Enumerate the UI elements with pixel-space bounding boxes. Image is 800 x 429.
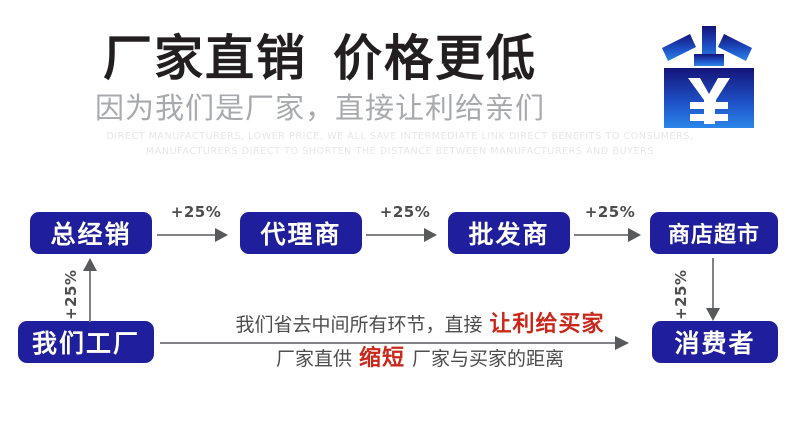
save-yuan-badge-icon (650, 22, 770, 140)
arrow-shaft (157, 234, 217, 236)
page-title: 厂家直销价格更低 (0, 30, 640, 88)
markup-label: +25% (672, 270, 690, 320)
slogan-line2-prefix: 厂家直供 (276, 348, 352, 370)
markup-arrow-agent-to-wholesaler: +25% (366, 203, 444, 249)
slogan-line1-highlight: 让利给买家 (490, 312, 605, 337)
flow-node-agent[interactable]: 代理商 (240, 212, 362, 254)
headline-right: 价格更低 (333, 30, 537, 87)
markup-arrow-factory-to-distributor: +25% (46, 258, 106, 322)
arrow-shaft (366, 234, 426, 236)
markup-label: +25% (157, 203, 235, 221)
arrow-shaft (574, 234, 630, 236)
flow-node-wholesaler[interactable]: 批发商 (448, 212, 570, 254)
markup-arrow-wholesaler-to-store: +25% (574, 203, 646, 249)
arrow-head-right-icon (215, 228, 228, 242)
arrow-head-right-icon (424, 228, 437, 242)
flow-node-factory[interactable]: 我们工厂 (18, 321, 154, 363)
slogan-line2-suffix: 厂家与买家的距离 (412, 348, 564, 370)
arrow-shaft (712, 258, 714, 310)
page-subtitle: 因为我们是厂家，直接让利给亲们 (0, 90, 640, 126)
slogan-line1-prefix: 我们省去中间所有环节，直接 (235, 314, 482, 336)
flow-node-store[interactable]: 商店超市 (650, 212, 778, 254)
markup-arrow-store-to-consumer: +25% (672, 258, 732, 322)
slogan-line2-highlight: 缩短 (359, 346, 405, 371)
arrow-shaft (160, 342, 615, 344)
markup-label: +25% (62, 270, 80, 320)
arrow-head-up-icon (83, 258, 97, 271)
arrow-head-down-icon (706, 308, 720, 321)
flow-node-distributor[interactable]: 总经销 (30, 212, 152, 254)
arrow-head-right-icon (628, 228, 641, 242)
headline-left: 厂家直销 (103, 30, 307, 87)
flow-node-consumer[interactable]: 消费者 (652, 321, 778, 363)
arrow-shaft (89, 270, 91, 322)
markup-label: +25% (366, 203, 444, 221)
markup-label: +25% (574, 203, 646, 221)
slogan-line-2: 厂家直供缩短厂家与买家的距离 (220, 347, 620, 371)
slogan-line-1: 我们省去中间所有环节，直接让利给买家 (220, 313, 620, 337)
promo-banner: 厂家直销价格更低 因为我们是厂家，直接让利给亲们 DIRECT MANUFACT… (0, 0, 800, 429)
direct-supply-slogan: 我们省去中间所有环节，直接让利给买家 厂家直供缩短厂家与买家的距离 (160, 311, 640, 377)
markup-arrow-distributor-to-agent: +25% (157, 203, 235, 249)
english-tagline-line2: MANUFACTURERS DIRECT TO SHORTEN THE DIST… (0, 146, 800, 157)
